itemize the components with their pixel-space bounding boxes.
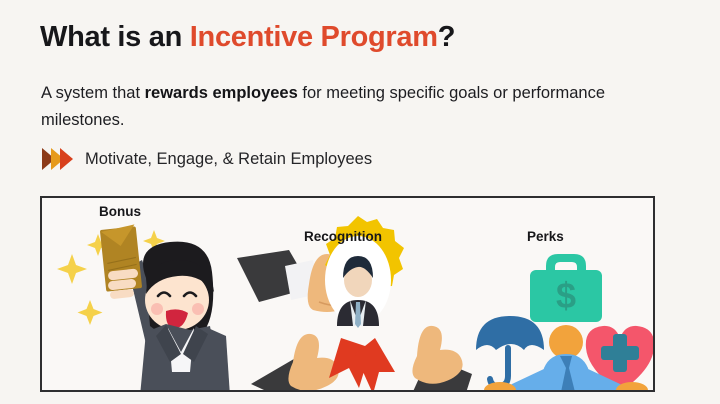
hand — [412, 326, 462, 384]
svg-text:$: $ — [556, 275, 576, 316]
illustration-panel: Bonus — [40, 196, 655, 392]
scene-label-recognition: Recognition — [304, 229, 382, 244]
perks-illustration: $ — [472, 242, 655, 392]
hand — [288, 334, 338, 391]
body-paragraph: A system that rewards employees for meet… — [41, 80, 641, 134]
chevron-right-icon — [60, 148, 73, 170]
blush-left — [151, 303, 163, 315]
lowered-arm — [208, 328, 230, 392]
illustration-panel-inner: Bonus — [42, 198, 653, 390]
thumbs-up-icon — [251, 334, 339, 392]
page-title-lead: What is an — [40, 21, 190, 53]
hand-gripping-envelope — [108, 268, 139, 299]
scene-label-bonus: Bonus — [99, 204, 141, 219]
body-text-before: A system that — [41, 84, 145, 102]
body-text-bold: rewards employees — [145, 84, 298, 102]
blush-right — [192, 303, 204, 315]
portrait-tie — [355, 302, 361, 328]
page-title-tail: ? — [438, 21, 455, 53]
bonus-illustration — [50, 212, 240, 392]
scene-label-perks: Perks — [527, 229, 564, 244]
person-head — [549, 325, 583, 359]
bullet-label: Motivate, Engage, & Retain Employees — [85, 150, 372, 169]
bullet-row: Motivate, Engage, & Retain Employees — [42, 148, 372, 170]
page-title-accent: Incentive Program — [190, 21, 438, 53]
chevron-group — [42, 148, 69, 170]
slide-canvas: What is an Incentive Program? A system t… — [0, 0, 720, 404]
page-title: What is an Incentive Program? — [40, 22, 455, 54]
thumbs-up-icon — [411, 326, 472, 392]
briefcase-dollar-icon: $ — [530, 254, 602, 322]
